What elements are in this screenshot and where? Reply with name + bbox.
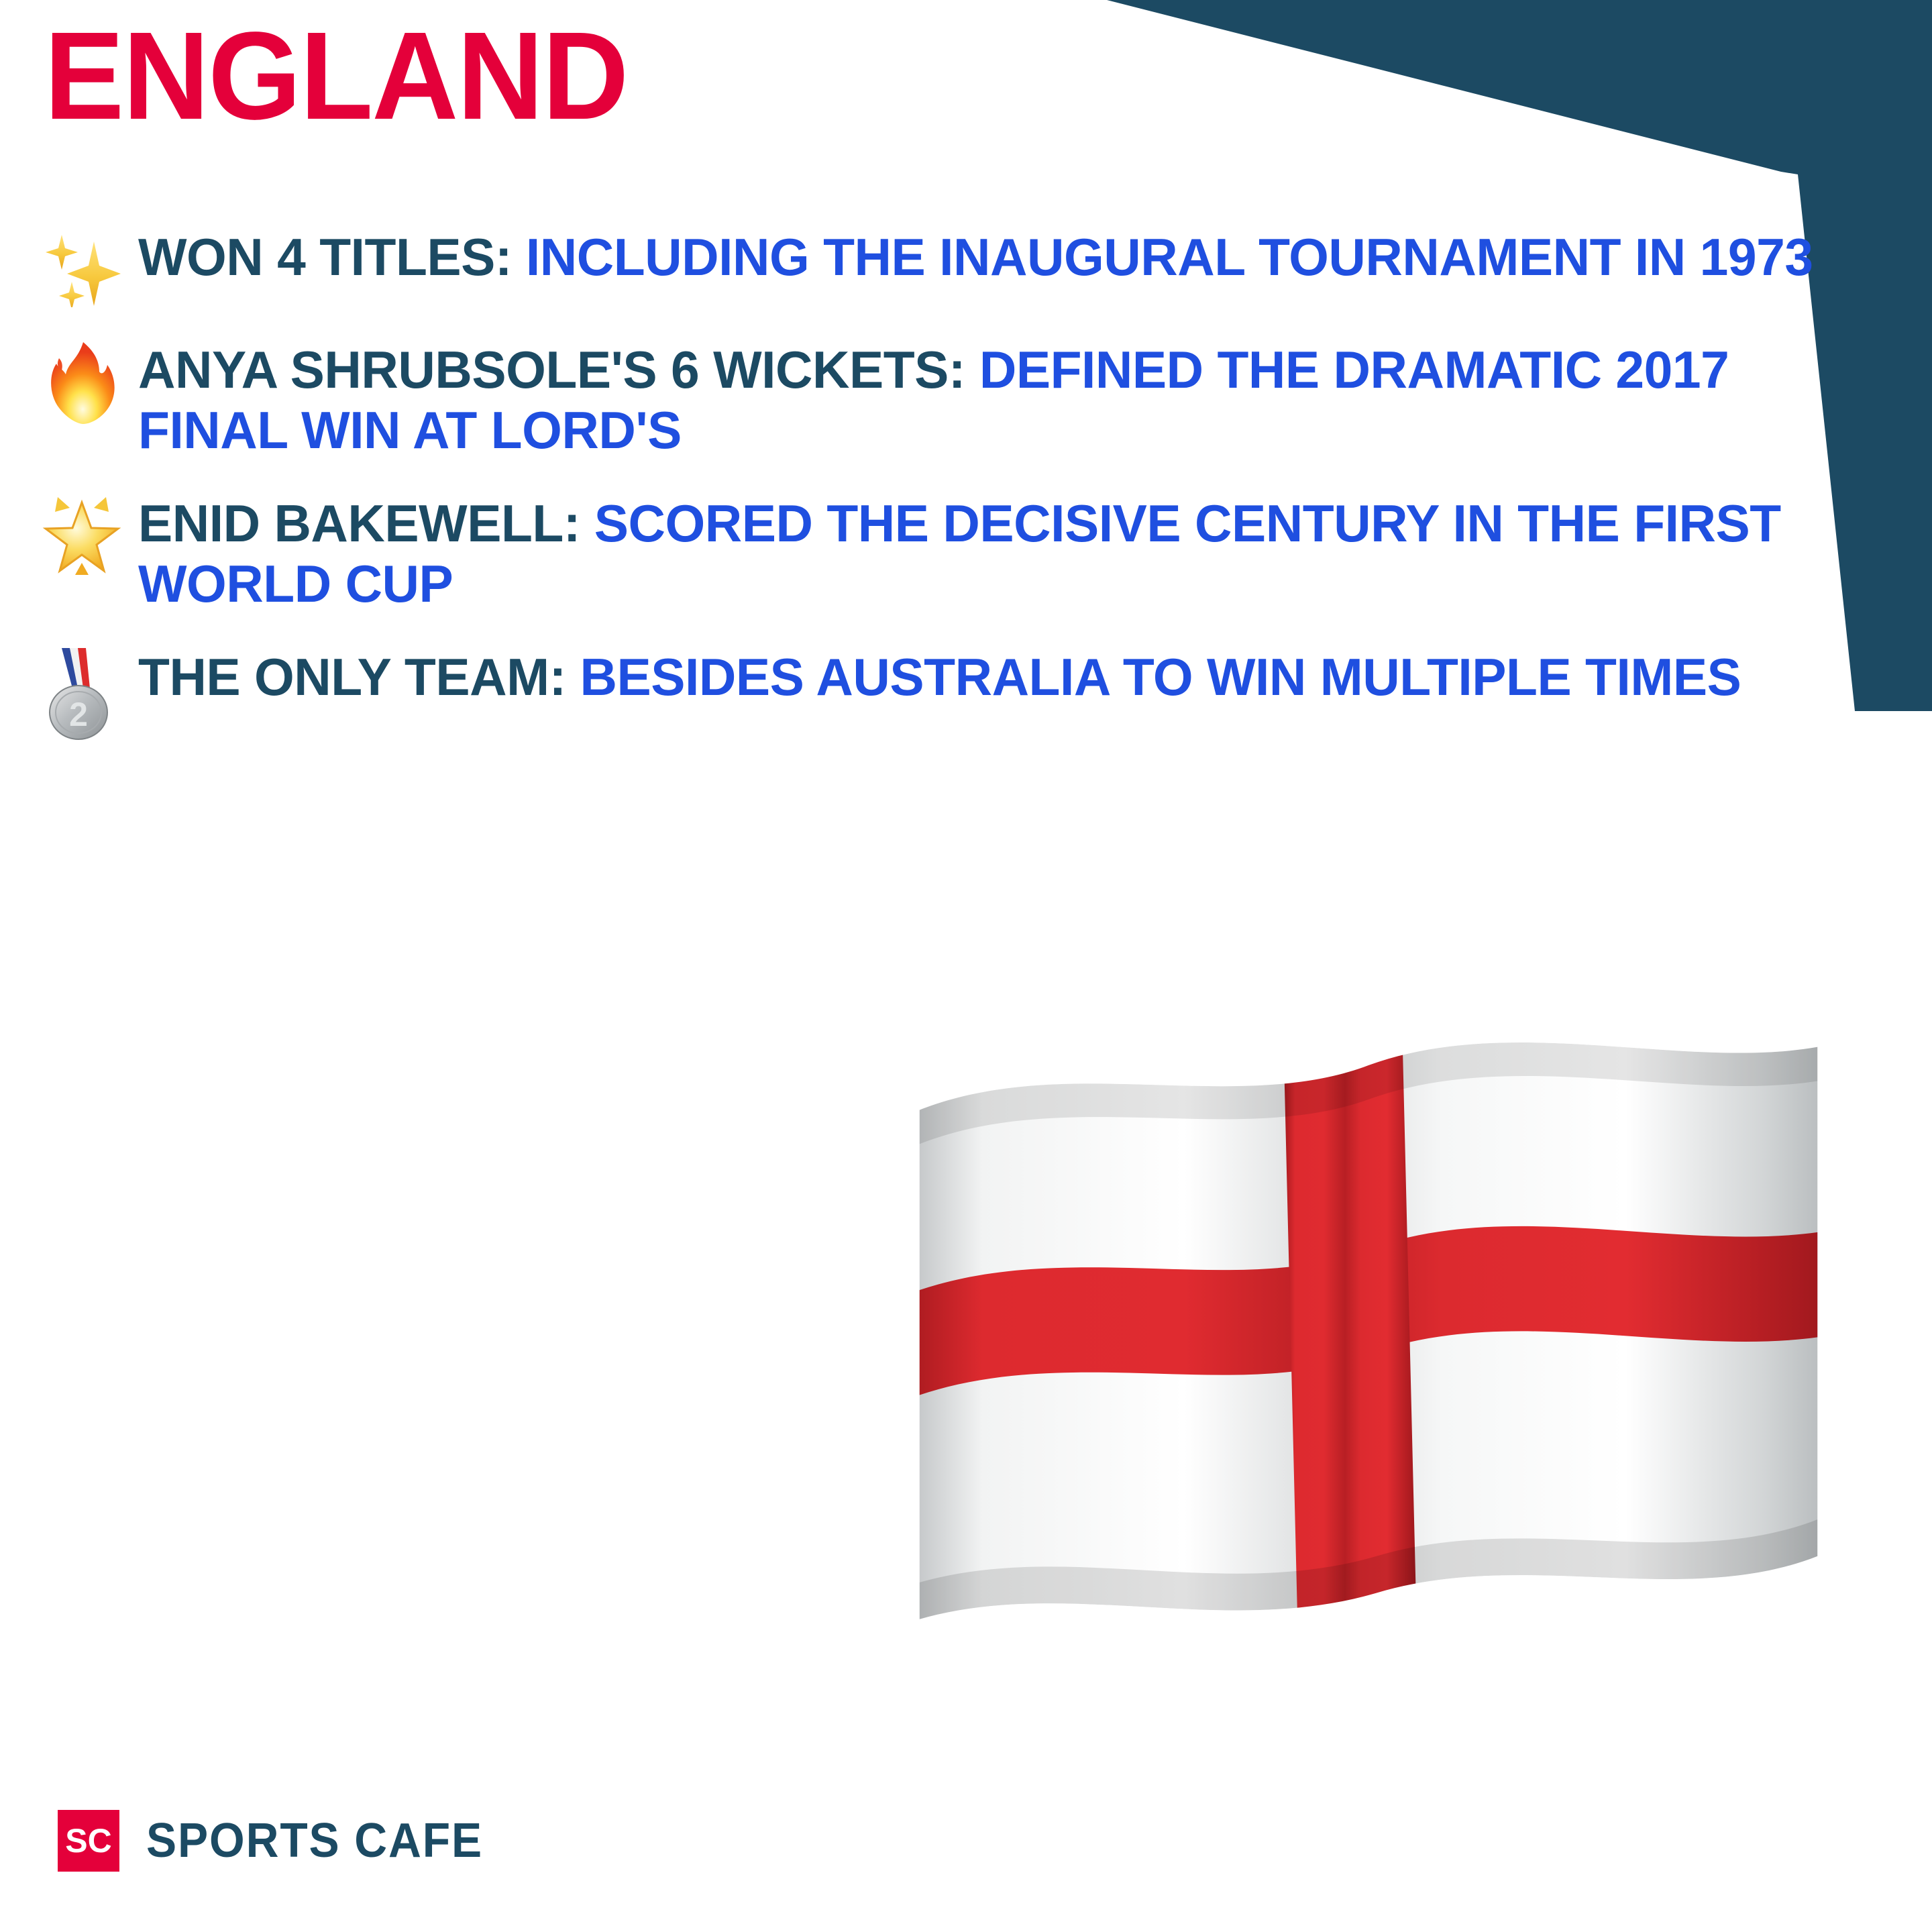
list-item-text: ANYA SHRUBSOLE'S 6 WICKETS: DEFINED THE … [138, 339, 1849, 461]
list-item-label: THE ONLY TEAM: [138, 647, 566, 706]
list-item-text: WON 4 TITLES: INCLUDING THE INAUGURAL TO… [138, 227, 1849, 287]
list-item-label: ANYA SHRUBSOLE'S 6 WICKETS: [138, 340, 965, 399]
list-item: ENID BAKEWELL: SCORED THE DECISIVE CENTU… [38, 493, 1876, 614]
list-item-body: BESIDES AUSTRALIA TO WIN MULTIPLE TIMES [566, 647, 1741, 706]
list-item-text: ENID BAKEWELL: SCORED THE DECISIVE CENTU… [138, 493, 1849, 614]
england-flag [909, 1036, 1828, 1640]
list-item: ANYA SHRUBSOLE'S 6 WICKETS: DEFINED THE … [38, 339, 1876, 461]
svg-text:2: 2 [69, 696, 88, 733]
list-item: 2 THE ONLY TEAM: BESIDES AUSTRALIA TO WI… [38, 647, 1876, 741]
list-item-body: INCLUDING THE INAUGURAL TOURNAMENT IN 19… [512, 227, 1813, 286]
fire-icon [38, 339, 138, 427]
second-place-medal-icon: 2 [38, 647, 138, 741]
list-item: WON 4 TITLES: INCLUDING THE INAUGURAL TO… [38, 227, 1876, 307]
sc-logo-badge: SC [58, 1810, 119, 1872]
list-item-text: THE ONLY TEAM: BESIDES AUSTRALIA TO WIN … [138, 647, 1849, 707]
sparkles-icon [38, 227, 138, 307]
list-item-label: WON 4 TITLES: [138, 227, 512, 286]
facts-list: WON 4 TITLES: INCLUDING THE INAUGURAL TO… [38, 227, 1876, 773]
list-item-label: ENID BAKEWELL: [138, 494, 580, 553]
glowing-star-icon [38, 493, 138, 575]
brand-footer: SC SPORTS CAFE [58, 1810, 504, 1872]
page-title: ENGLAND [44, 19, 627, 133]
brand-name: SPORTS CAFE [146, 1813, 483, 1868]
title-block: ENGLAND [44, 19, 652, 133]
